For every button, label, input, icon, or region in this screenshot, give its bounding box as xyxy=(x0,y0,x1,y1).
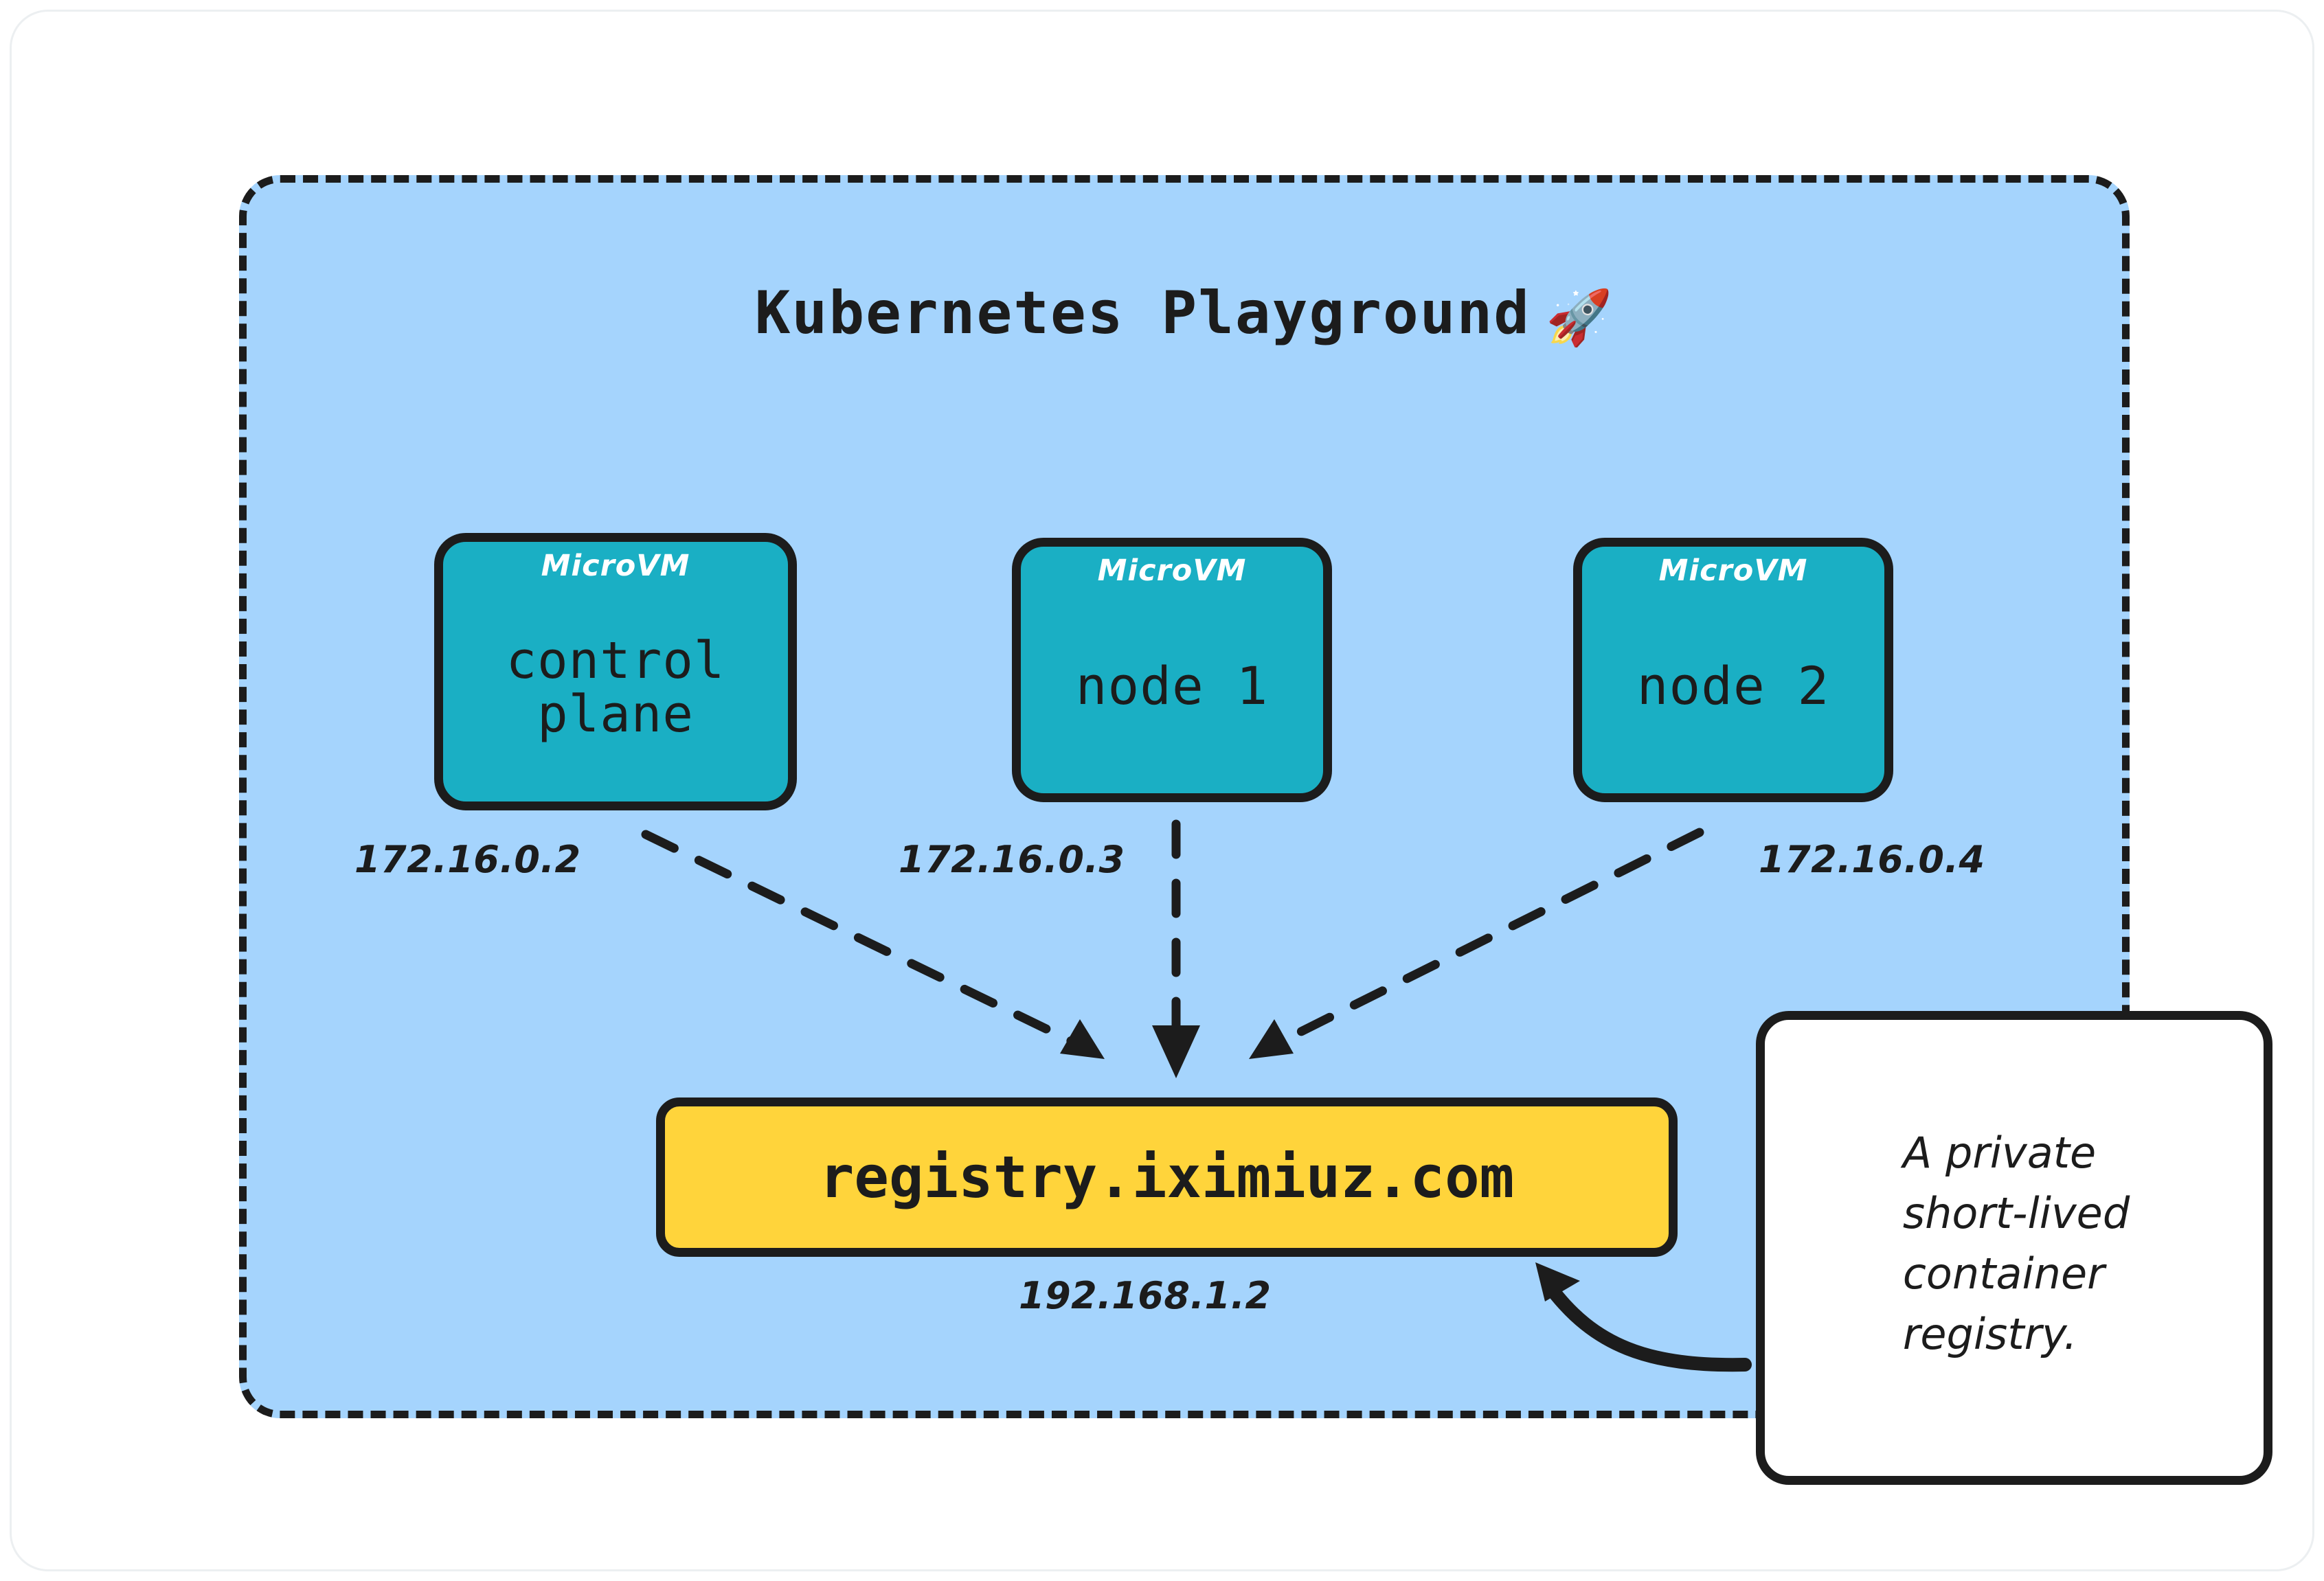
microvm-node-1[interactable]: MicroVM node 1 xyxy=(1012,538,1332,802)
callout-note: A private short-lived container registry… xyxy=(1756,1011,2272,1485)
rocket-emoji: 🚀 xyxy=(1546,287,1614,349)
microvm-kind-label: MicroVM xyxy=(541,551,690,581)
microvm-control-plane[interactable]: MicroVM control plane xyxy=(434,533,797,810)
registry-box[interactable]: registry.iximiuz.com xyxy=(656,1097,1678,1257)
registry-label: registry.iximiuz.com xyxy=(820,1144,1514,1211)
ip-label-registry: 192.168.1.2 xyxy=(1019,1274,1272,1317)
playground-title-text: Kubernetes Playground xyxy=(755,279,1531,348)
ip-label-node-2: 172.16.0.4 xyxy=(1759,838,1985,881)
ip-label-node-1: 172.16.0.3 xyxy=(899,838,1125,881)
microvm-kind-label: MicroVM xyxy=(1098,556,1247,586)
microvm-name-label: node 1 xyxy=(1076,586,1269,793)
ip-label-control-plane: 172.16.0.2 xyxy=(354,838,581,881)
microvm-name-label: node 2 xyxy=(1637,586,1830,793)
callout-note-text: A private short-lived container registry… xyxy=(1880,1123,2149,1373)
playground-title: Kubernetes Playground🚀 xyxy=(247,279,2122,350)
microvm-kind-label: MicroVM xyxy=(1659,556,1808,586)
diagram-canvas: Kubernetes Playground🚀 MicroVM control p… xyxy=(0,0,2324,1581)
microvm-node-2[interactable]: MicroVM node 2 xyxy=(1573,538,1893,802)
microvm-name-label: control plane xyxy=(506,581,725,801)
